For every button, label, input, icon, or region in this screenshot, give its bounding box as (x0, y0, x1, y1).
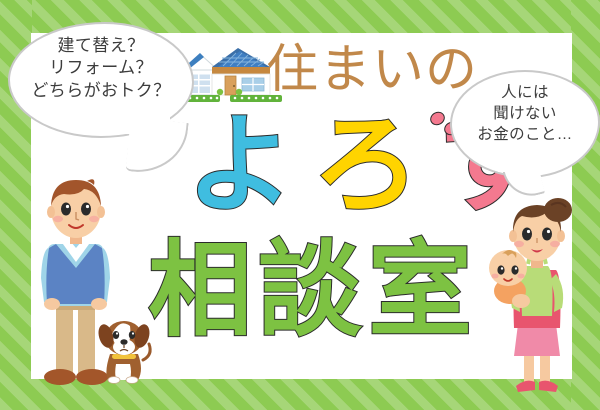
dog-illustration (96, 312, 156, 389)
title-subtitle: 相談室 (148, 238, 478, 342)
title-prefix: 住まいの (266, 44, 478, 96)
bubble-right-line-3: お金のこと… (452, 124, 598, 145)
woman-with-baby-illustration (488, 196, 584, 403)
bubble-right-line-2: 聞けない (452, 103, 598, 124)
subtitle-char-sou: 相 (148, 238, 252, 342)
subtitle-char-dan: 談 (258, 238, 362, 342)
house-illustration (178, 40, 282, 111)
bubble-left-line-2: リフォーム？ (10, 57, 192, 79)
title-char-yo: よ (186, 112, 294, 220)
subtitle-char-shitsu: 室 (368, 238, 472, 342)
bubble-left-line-1: 建て替え？ (10, 35, 192, 57)
speech-bubble-right-tail-mask (498, 152, 548, 172)
bubble-right-line-1: 人には (452, 82, 598, 103)
speech-bubble-left-tail-mask (110, 112, 170, 134)
banner-root: 住まいの よろす 相談室 建て替え？ リフォーム？ どちらがおトク？ 人には 聞… (0, 0, 600, 410)
bubble-left-line-3: どちらがおトク？ (10, 80, 192, 102)
title-char-ro: ろ (312, 112, 420, 220)
